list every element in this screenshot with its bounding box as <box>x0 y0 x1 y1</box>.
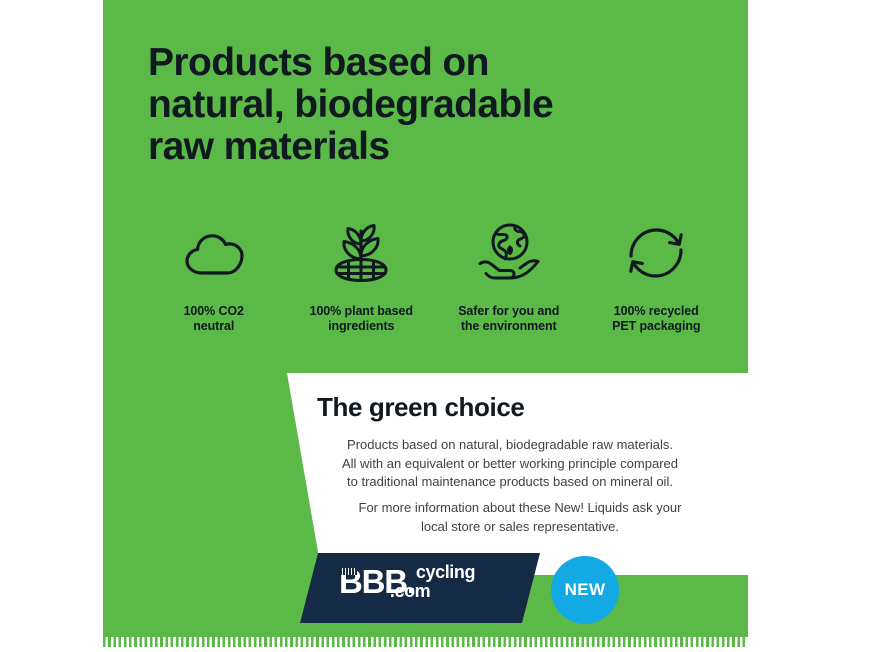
panel-paragraph-1: Products based on natural, biodegradable… <box>300 436 720 492</box>
feature-label: Safer for you and the environment <box>458 304 559 334</box>
globe-in-hand-icon <box>476 222 542 284</box>
page-title: Products based on natural, biodegradable… <box>148 42 668 168</box>
panel-paragraph-2: For more information about these New! Li… <box>310 499 730 536</box>
recycle-arrows-icon <box>625 222 687 284</box>
panel-title: The green choice <box>317 392 524 423</box>
logo-cycling-text: cycling <box>416 563 475 582</box>
poster-canvas: Products based on natural, biodegradable… <box>0 0 869 652</box>
feature-item-co2-neutral: 100% CO2 neutral <box>140 222 288 334</box>
brand-logo: BBB. cycling .com <box>339 562 475 608</box>
feature-label: 100% recycled PET packaging <box>612 304 700 334</box>
feature-item-recycled-pet: 100% recycled PET packaging <box>583 222 731 334</box>
logo-domain-stack: cycling .com <box>416 563 475 601</box>
feature-label: 100% CO2 neutral <box>184 304 244 334</box>
new-badge: NEW <box>551 556 619 624</box>
feature-item-safer-environment: Safer for you and the environment <box>435 222 583 334</box>
plant-sprout-icon <box>328 222 394 284</box>
feature-item-plant-based: 100% plant based ingredients <box>288 222 436 334</box>
feature-list: 100% CO2 neutral <box>140 222 730 334</box>
cloud-icon <box>182 222 246 284</box>
logo-bbb-text: BBB. <box>339 562 415 602</box>
sawtooth-bottom-edge <box>103 637 748 652</box>
feature-label: 100% plant based ingredients <box>310 304 413 334</box>
new-badge-label: NEW <box>565 580 606 600</box>
logo-tick-marks <box>341 568 357 575</box>
